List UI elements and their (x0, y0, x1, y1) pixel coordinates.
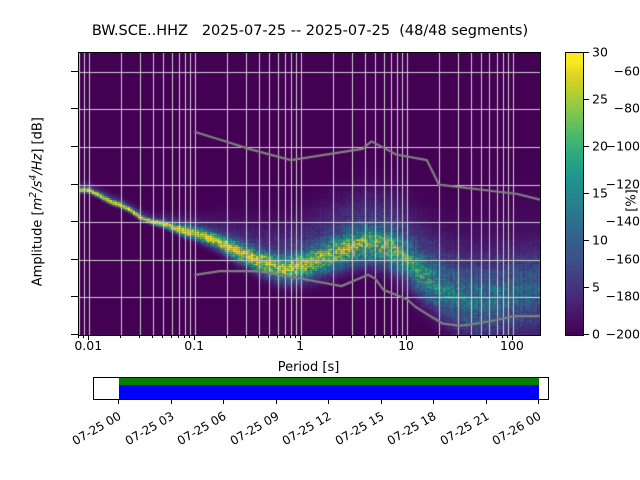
x-tick-minor-mark (364, 335, 365, 338)
coverage-tick-mark (433, 399, 434, 404)
ppsd-figure: BW.SCE..HHZ 2025-07-25 -- 2025-07-25 (48… (0, 0, 640, 480)
x-tick-minor-mark (290, 335, 291, 338)
x-tick-minor-mark (401, 335, 402, 338)
colorbar-tick-mark (583, 334, 589, 335)
coverage-tick-label: 07-25 21 (429, 409, 491, 453)
x-tick-minor-mark (374, 335, 375, 338)
colorbar-tick-mark (583, 240, 589, 241)
colorbar-tick-label: 30 (592, 45, 608, 60)
coverage-tick-label: 07-25 03 (114, 409, 176, 453)
colorbar-tick-mark (583, 287, 589, 288)
coverage-tick-label: 07-25 00 (61, 409, 123, 453)
y-tick-mark (71, 71, 78, 72)
y-tick-mark (71, 184, 78, 185)
x-axis-label: Period [s] (78, 360, 539, 375)
coverage-tick-label: 07-25 09 (219, 409, 281, 453)
coverage-tick-mark (223, 399, 224, 404)
x-tick-minor-mark (480, 335, 481, 338)
x-tick-label: 1 (260, 338, 340, 353)
x-tick-minor-mark (496, 335, 497, 338)
coverage-tick-mark (381, 399, 382, 404)
y-tick-mark (71, 334, 78, 335)
x-tick-minor-mark (383, 335, 384, 338)
x-tick-minor-mark (178, 335, 179, 338)
coverage-tick-label: 07-25 15 (324, 409, 386, 453)
y-tick-mark (71, 146, 78, 147)
y-tick-mark (71, 296, 78, 297)
x-tick-minor-mark (189, 335, 190, 338)
x-tick-minor-mark (438, 335, 439, 338)
coverage-tick-mark (538, 399, 539, 404)
coverage-tick-label: 07-25 12 (271, 409, 333, 453)
coverage-tick-label: 07-25 18 (376, 409, 438, 453)
x-tick-minor-mark (83, 335, 84, 338)
x-tick-label: 10 (366, 338, 446, 353)
x-tick-minor-mark (226, 335, 227, 338)
colorbar-tick-mark (583, 193, 589, 194)
x-tick-minor-mark (162, 335, 163, 338)
x-tick-minor-mark (457, 335, 458, 338)
x-tick-minor-mark (488, 335, 489, 338)
x-tick-minor-mark (268, 335, 269, 338)
colorbar-tick-label: 10 (592, 233, 608, 248)
x-tick-minor-mark (502, 335, 503, 338)
colorbar-gradient (566, 53, 583, 335)
coverage-bar-lower (119, 385, 539, 399)
colorbar-tick-label: 25 (592, 92, 608, 107)
colorbar-tick-mark (583, 52, 589, 53)
colorbar-tick-label: 0 (592, 327, 600, 342)
x-tick-minor-mark (390, 335, 391, 338)
coverage-timeline[interactable] (93, 377, 549, 400)
y-tick-mark (71, 259, 78, 260)
x-tick-minor-mark (332, 335, 333, 338)
coverage-tick-label: 07-26 00 (481, 409, 543, 453)
coverage-tick-mark (486, 399, 487, 404)
colorbar-tick-mark (583, 146, 589, 147)
x-tick-minor-mark (470, 335, 471, 338)
y-axis-label-text: Amplitude [m2/s4/Hz] [dB] (31, 117, 46, 286)
ppsd-plot-area[interactable] (78, 52, 541, 336)
x-tick-minor-mark (284, 335, 285, 338)
colorbar-label: [%] (625, 156, 640, 246)
x-tick-minor-mark (277, 335, 278, 338)
ppsd-density-heatmap (79, 53, 540, 335)
x-tick-label: 0.1 (154, 338, 234, 353)
x-tick-minor-mark (120, 335, 121, 338)
x-tick-minor-mark (78, 335, 79, 338)
x-tick-minor-mark (351, 335, 352, 338)
x-tick-minor-mark (184, 335, 185, 338)
page-title: BW.SCE..HHZ 2025-07-25 -- 2025-07-25 (48… (0, 23, 620, 39)
colorbar-tick-mark (583, 99, 589, 100)
x-tick-label: 0.01 (48, 338, 128, 353)
coverage-tick-label: 07-25 06 (166, 409, 228, 453)
x-tick-minor-mark (139, 335, 140, 338)
y-axis-label: Amplitude [m2/s4/Hz] [dB] (28, 52, 45, 352)
colorbar-tick-label: 20 (592, 139, 608, 154)
x-tick-minor-mark (258, 335, 259, 338)
x-tick-minor-mark (507, 335, 508, 338)
x-tick-label: 100 (472, 338, 552, 353)
coverage-tick-mark (171, 399, 172, 404)
x-tick-minor-mark (245, 335, 246, 338)
coverage-bar-upper (119, 378, 539, 385)
x-tick-minor-mark (171, 335, 172, 338)
coverage-tick-mark (276, 399, 277, 404)
colorbar-tick-label: 15 (592, 186, 608, 201)
y-tick-mark (71, 221, 78, 222)
x-tick-minor-mark (295, 335, 296, 338)
x-tick-minor-mark (396, 335, 397, 338)
colorbar-tick-label: 5 (592, 280, 600, 295)
coverage-tick-mark (118, 399, 119, 404)
coverage-tick-mark (328, 399, 329, 404)
x-tick-minor-mark (152, 335, 153, 338)
y-tick-mark (71, 108, 78, 109)
colorbar[interactable] (565, 52, 584, 336)
